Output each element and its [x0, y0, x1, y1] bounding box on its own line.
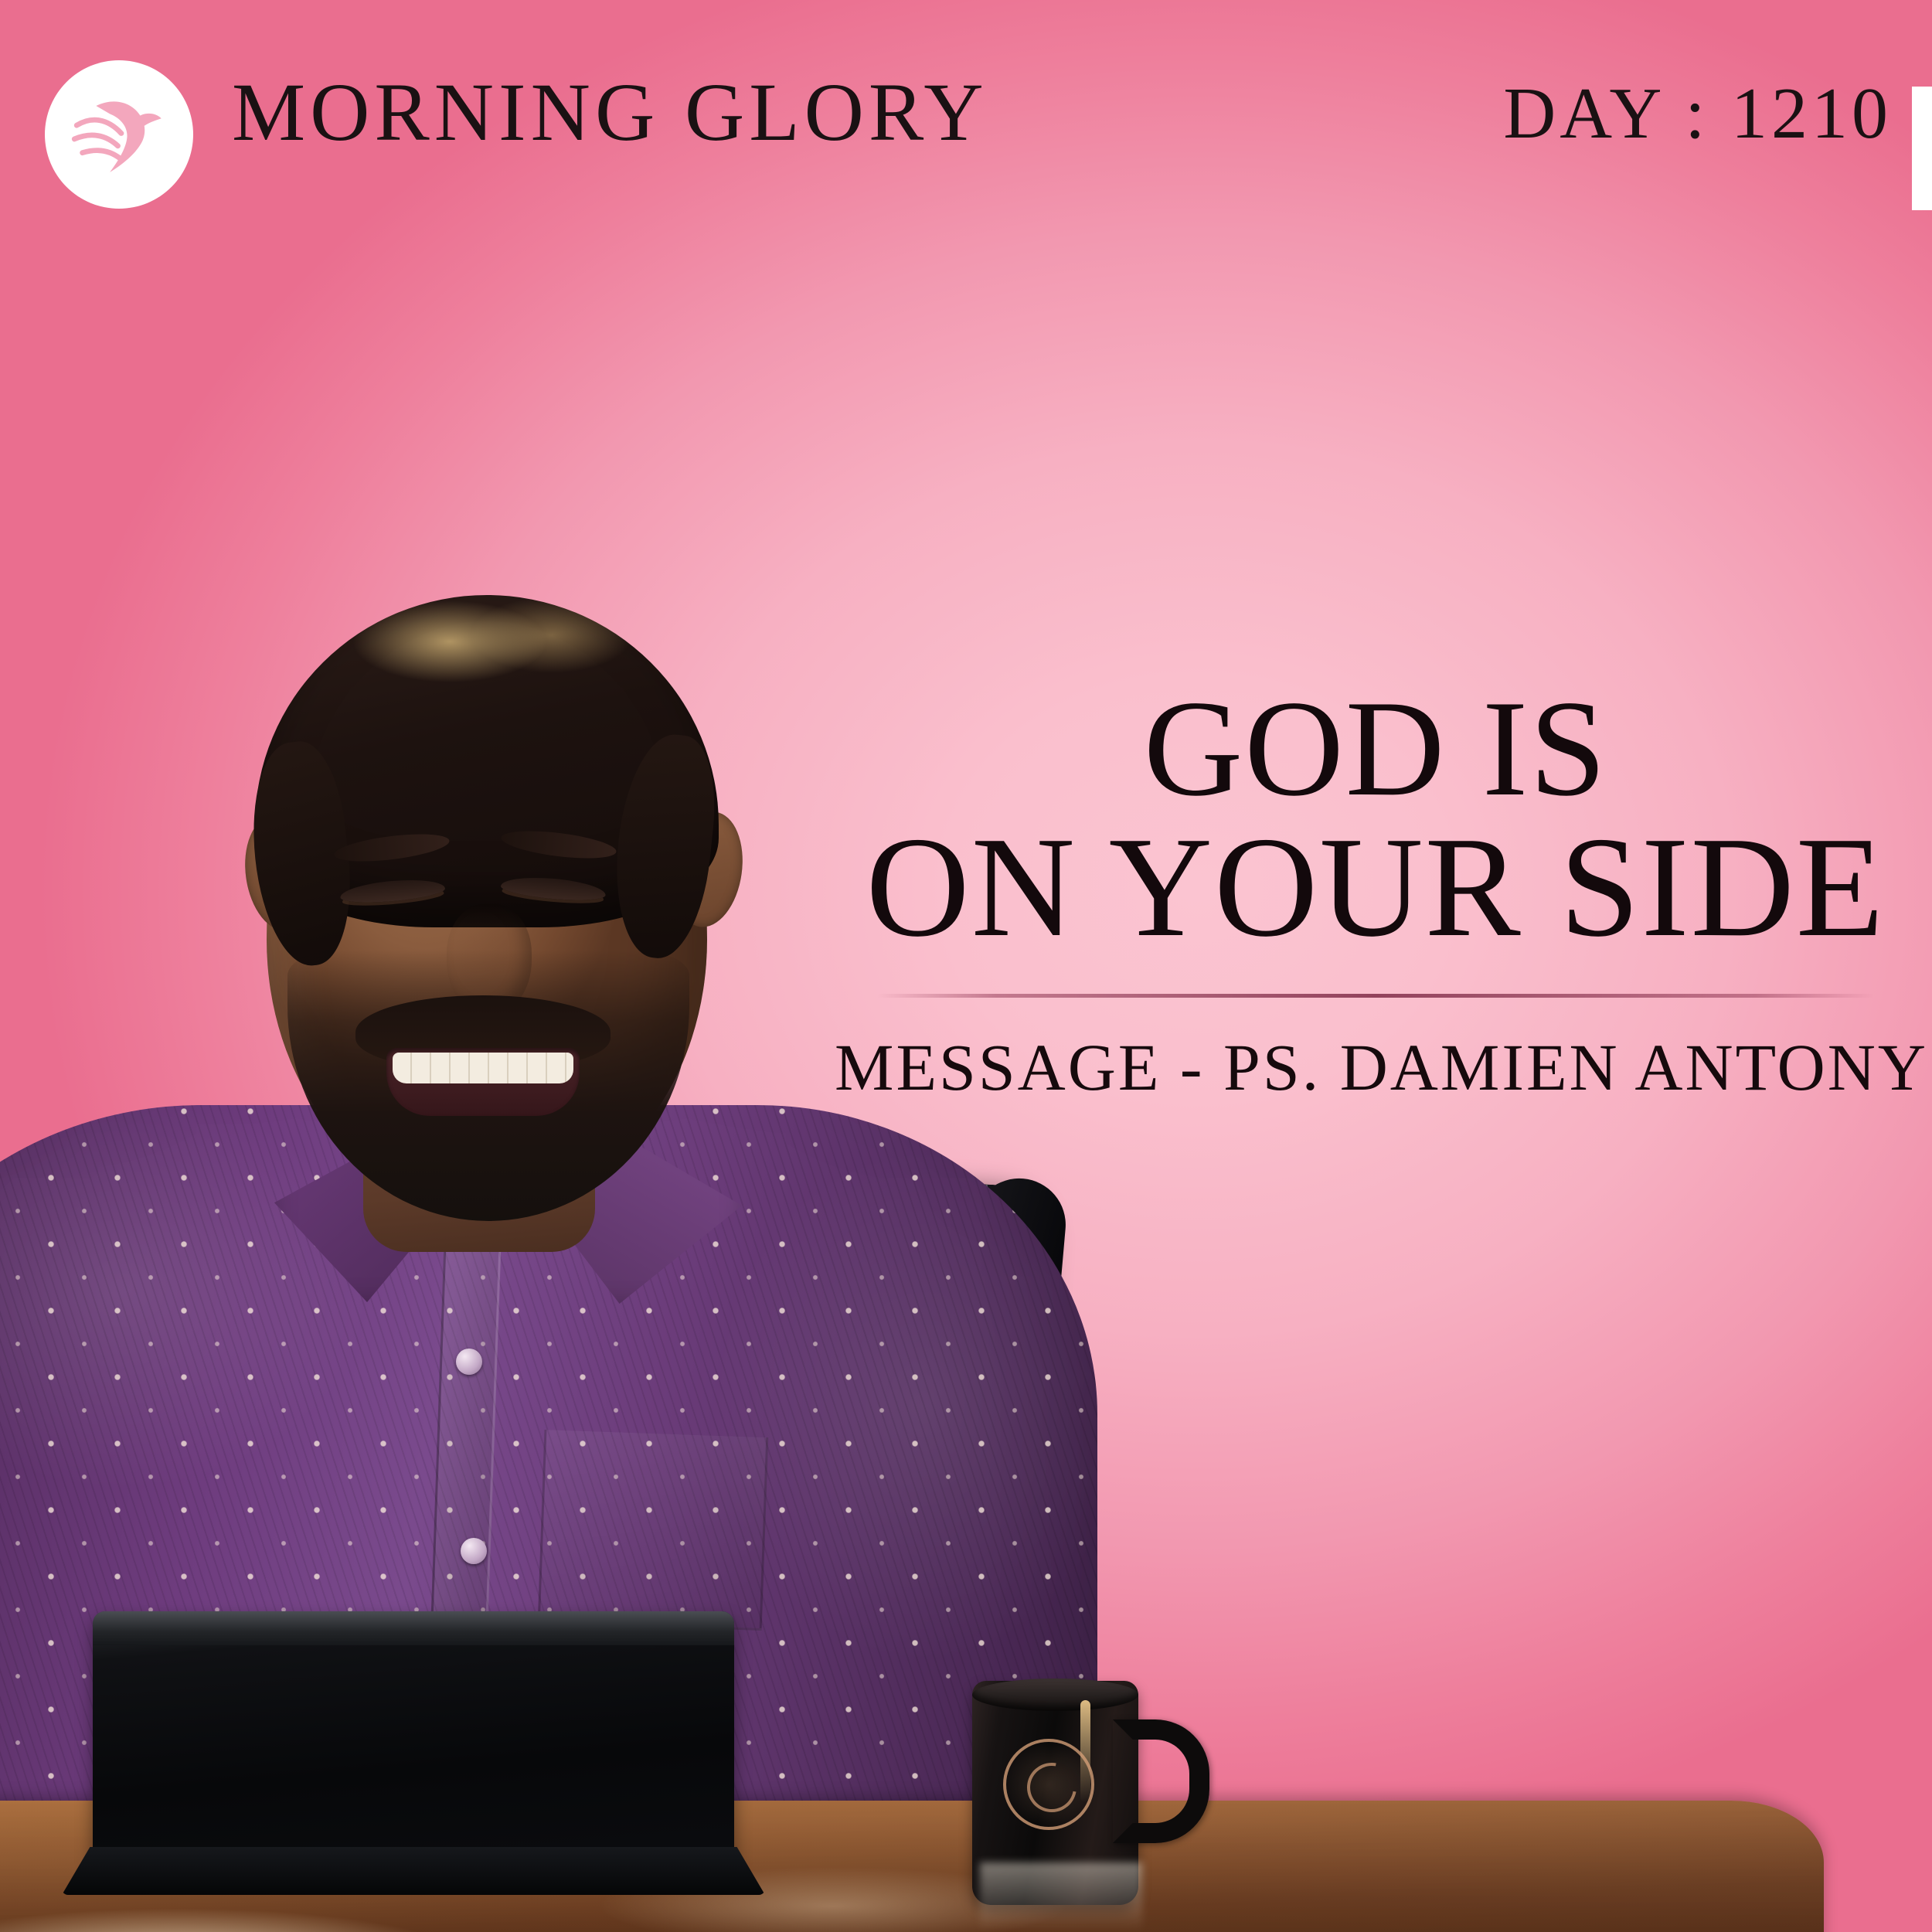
tablet-device	[93, 1611, 734, 1866]
coffee-mug-logo-icon	[1003, 1739, 1094, 1830]
corner-white-tag	[1912, 87, 1932, 210]
dove-logo-icon	[62, 77, 176, 192]
shirt-button-upper	[456, 1349, 482, 1375]
subject-teeth	[393, 1053, 573, 1083]
dove-logo-badge	[45, 60, 193, 209]
headline-line-1: GOD IS	[835, 680, 1917, 816]
sermon-headline: GOD IS ON YOUR SIDE	[835, 680, 1917, 958]
shirt-button-lower	[461, 1538, 487, 1564]
message-block: GOD IS ON YOUR SIDE MESSAGE - PS. DAMIEN…	[835, 680, 1917, 1106]
poster-header: MORNING GLORY DAY : 1210	[0, 0, 1932, 224]
coffee-mug-reflection	[980, 1862, 1142, 1932]
tablet-top-bezel	[93, 1611, 734, 1645]
day-counter-label: DAY : 1210	[1503, 77, 1892, 150]
coffee-mug-rim	[972, 1679, 1138, 1711]
coffee-mug-handle	[1113, 1719, 1209, 1843]
subject-mouth	[386, 1048, 580, 1116]
brand-title: MORNING GLORY	[232, 72, 988, 155]
poster-canvas: MORNING GLORY DAY : 1210 GOD IS ON YOUR …	[0, 0, 1932, 1932]
headline-divider	[877, 994, 1874, 998]
shirt-pocket	[538, 1430, 769, 1631]
tablet-stand	[62, 1847, 765, 1895]
headline-line-2: ON YOUR SIDE	[835, 816, 1917, 958]
speaker-byline: MESSAGE - PS. DAMIEN ANTONY	[835, 1029, 1917, 1106]
